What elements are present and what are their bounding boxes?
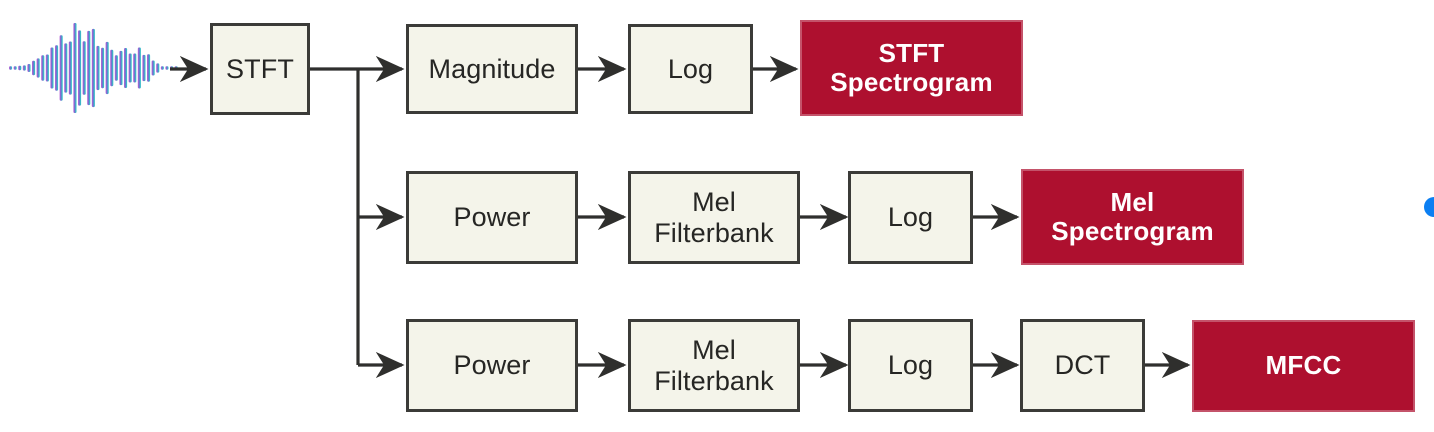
node-mel-filterbank-row2-label-line2: Filterbank bbox=[654, 218, 774, 248]
node-log-row1[interactable]: Log bbox=[628, 24, 753, 114]
node-stft-label: STFT bbox=[226, 54, 294, 84]
node-log-row2[interactable]: Log bbox=[848, 171, 973, 264]
node-mfcc[interactable]: MFCC bbox=[1192, 320, 1415, 412]
audio-waveform-svg bbox=[8, 16, 180, 120]
node-stft-spectrogram[interactable]: STFT Spectrogram bbox=[800, 20, 1023, 116]
audio-waveform-icon bbox=[8, 16, 180, 120]
node-mel-filterbank-row3-label-line2: Filterbank bbox=[654, 366, 774, 396]
node-dct-label: DCT bbox=[1055, 350, 1111, 380]
accent-dot-icon bbox=[1424, 197, 1434, 217]
node-mel-filterbank-row2-text: Mel Filterbank bbox=[654, 187, 774, 247]
node-mel-spectrogram-label-line2: Spectrogram bbox=[1051, 217, 1214, 246]
node-mel-spectrogram[interactable]: Mel Spectrogram bbox=[1021, 169, 1244, 265]
node-magnitude[interactable]: Magnitude bbox=[406, 24, 578, 114]
node-mel-filterbank-row3-label-line1: Mel bbox=[654, 335, 774, 365]
node-stft-spectrogram-label-line2: Spectrogram bbox=[830, 68, 993, 97]
node-mel-filterbank-row2[interactable]: Mel Filterbank bbox=[628, 171, 800, 264]
pipeline-diagram: STFT Magnitude Log STFT Spectrogram Powe… bbox=[0, 0, 1434, 432]
node-log-row1-label: Log bbox=[668, 54, 713, 84]
node-mfcc-label: MFCC bbox=[1266, 351, 1342, 380]
node-stft-spectrogram-label-line1: STFT bbox=[830, 39, 993, 68]
node-stft[interactable]: STFT bbox=[210, 23, 310, 115]
node-power-row2-label: Power bbox=[453, 202, 530, 232]
node-log-row3-label: Log bbox=[888, 350, 933, 380]
node-log-row2-label: Log bbox=[888, 202, 933, 232]
node-mel-spectrogram-text: Mel Spectrogram bbox=[1051, 188, 1214, 246]
node-mel-filterbank-row3-text: Mel Filterbank bbox=[654, 335, 774, 395]
node-magnitude-label: Magnitude bbox=[429, 54, 556, 84]
node-stft-spectrogram-text: STFT Spectrogram bbox=[830, 39, 993, 97]
node-mel-filterbank-row2-label-line1: Mel bbox=[654, 187, 774, 217]
node-log-row3[interactable]: Log bbox=[848, 319, 973, 412]
node-power-row2[interactable]: Power bbox=[406, 171, 578, 264]
node-mel-filterbank-row3[interactable]: Mel Filterbank bbox=[628, 319, 800, 412]
node-dct[interactable]: DCT bbox=[1020, 319, 1145, 412]
node-power-row3[interactable]: Power bbox=[406, 319, 578, 412]
node-mel-spectrogram-label-line1: Mel bbox=[1051, 188, 1214, 217]
node-power-row3-label: Power bbox=[453, 350, 530, 380]
